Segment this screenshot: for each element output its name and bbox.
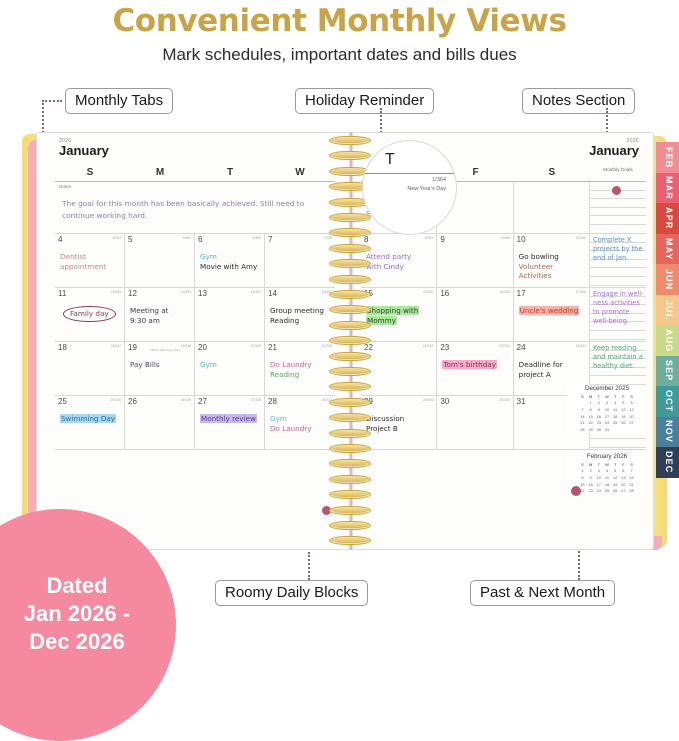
calendar-event[interactable]: Do Laundry (270, 424, 312, 434)
calendar-event-text: Reading (270, 316, 299, 325)
monthly-goals-header: Monthly Goals (590, 165, 646, 181)
month-tab-label: NOV (664, 420, 674, 443)
spiral-coil (329, 521, 371, 530)
mini-day: 8 (587, 406, 595, 413)
spiral-coil (329, 367, 371, 376)
day-number: 20 (198, 343, 207, 352)
month-tab-jul[interactable]: JUL (656, 295, 679, 326)
month-tab-label: OCT (664, 390, 674, 412)
calendar-event-text: Gym (200, 252, 217, 261)
day-of-year-fraction: 19/346 (181, 344, 191, 348)
calendar-event[interactable]: Gym (200, 252, 217, 262)
day-of-year-fraction: 4/361 (113, 236, 122, 240)
calendar-event[interactable]: Deadline for (519, 360, 563, 370)
month-tab-sep[interactable]: SEP (656, 356, 679, 387)
mini-day: 27 (627, 419, 635, 426)
day-of-year-fraction: 18/347 (111, 344, 121, 348)
calendar-event[interactable]: Group meeting (270, 306, 324, 316)
day-number: 7 (268, 235, 272, 244)
calendar-event-text: Meeting at (130, 306, 169, 315)
mini-day: 27 (619, 487, 627, 494)
callout-holiday-reminder: Holiday Reminder (295, 88, 434, 114)
monthly-goal-text: Keep reading and maintain a healthy diet… (593, 344, 645, 371)
spiral-coil (329, 244, 371, 253)
day-number: 17 (517, 289, 526, 298)
magnifier-rule (363, 173, 457, 174)
mini-dow: W (603, 393, 611, 400)
calendar-day-cell[interactable]: 55/360 (125, 234, 195, 288)
day-number: 26 (128, 397, 137, 406)
month-tab-nov[interactable]: NOV (656, 417, 679, 448)
spiral-coil (329, 444, 371, 453)
calendar-event[interactable]: Movie with Amy (200, 262, 257, 272)
left-calendar-grid: SMTWNotesThe goal for this month has bee… (55, 165, 335, 450)
day-number: 31 (517, 397, 526, 406)
calendar-day-cell[interactable]: 44/361Dentistappointment (55, 234, 125, 288)
calendar-event[interactable]: project A (519, 370, 551, 380)
mini-dow: T (595, 393, 603, 400)
calendar-event-text: Pay Bills (130, 360, 160, 369)
mini-day: 12 (611, 474, 619, 481)
day-of-year-fraction: 13/352 (251, 290, 261, 294)
day-of-year-fraction: 25/340 (111, 398, 121, 402)
goal-rule-line (590, 331, 646, 340)
callout-monthly-tabs: Monthly Tabs (65, 88, 173, 114)
monthly-goal-text: Engage in well-ness activities to promot… (593, 290, 645, 326)
callout-past-next-month: Past & Next Month (470, 580, 615, 606)
calendar-day-cell[interactable]: 2020/345Gym (195, 342, 265, 396)
mini-day: 9 (595, 406, 603, 413)
mini-day: 2 (587, 468, 595, 475)
mini-week-row: 15161718192021 (578, 481, 635, 488)
mini-day: 28 (627, 487, 635, 494)
day-of-year-fraction: 5/360 (183, 236, 192, 240)
mini-day: 16 (595, 413, 603, 420)
day-of-week-header: SMTW (55, 165, 335, 182)
mini-day: 10 (603, 406, 611, 413)
mini-day: 21 (578, 419, 586, 426)
mini-day: 7 (627, 468, 635, 475)
calendar-day-cell[interactable]: 77/358 (265, 234, 335, 288)
mini-day (619, 426, 627, 433)
month-tab-label: MAR (664, 176, 674, 200)
mini-dow: F (619, 393, 627, 400)
spiral-coil (329, 336, 371, 345)
notes-label: Notes (59, 184, 71, 189)
calendar-day-cell[interactable]: 99/356 (437, 234, 513, 288)
calendar-event-text: Gym (200, 360, 217, 369)
calendar-event[interactable]: Shopping with (366, 306, 419, 316)
mini-day: 29 (587, 426, 595, 433)
goals-cell[interactable]: Engage in well-ness activities to promot… (590, 288, 646, 342)
spiral-coil (329, 506, 371, 515)
page-title: Convenient Monthly Views (0, 4, 679, 40)
monthly-goal-text: Complete X projects by the end of Jan. (593, 236, 645, 263)
spiral-coil (329, 275, 371, 284)
mini-day: 3 (603, 400, 611, 407)
mini-day: 24 (595, 487, 603, 494)
calendar-event-text: Do Laundry (270, 424, 312, 433)
magnifier-dow-letter: T (385, 151, 395, 169)
mini-day: 9 (587, 474, 595, 481)
spiral-coil (329, 475, 371, 484)
day-of-year-fraction: 17/348 (576, 290, 586, 294)
mini-day: 24 (603, 419, 611, 426)
calendar-event-text: Attend party (366, 252, 411, 261)
calendar-day-cell[interactable]: 2323/342Tom's birthday (437, 342, 513, 396)
holiday-label: Martin Luther King Jr Day (151, 349, 180, 352)
mini-dow: T (611, 393, 619, 400)
calendar-day-cell[interactable]: 2626/339 (125, 396, 195, 450)
calendar-event[interactable]: appointment (60, 262, 106, 272)
month-tab-may[interactable]: MAY (656, 234, 679, 265)
spiral-coil (329, 429, 371, 438)
page-header: Convenient Monthly Views Mark schedules,… (0, 0, 679, 65)
calendar-event[interactable]: Gym (270, 414, 287, 424)
mini-day: 1 (578, 468, 586, 475)
spiral-coil (329, 259, 371, 268)
mini-calendar-table: SMTWTFS123456789101112131415161718192021… (578, 461, 635, 494)
calendar-event[interactable]: Uncle's wedding (519, 306, 580, 316)
mini-week-row: 891011121314 (578, 474, 635, 481)
calendar-event[interactable]: Pay Bills (130, 360, 160, 370)
mini-dow: W (603, 461, 611, 468)
holiday-magnifier: T 1/364 New Year's Day (362, 140, 457, 235)
calendar-day-cell[interactable]: 1414/351Group meetingReading (265, 288, 335, 342)
day-number: 30 (440, 397, 449, 406)
badge-line-2: Jan 2026 - (24, 600, 130, 628)
calendar-event[interactable]: Go bowling (519, 252, 559, 262)
page-subtitle: Mark schedules, important dates and bill… (0, 45, 679, 65)
spiral-coil (329, 290, 371, 299)
day-of-year-fraction: 12/353 (181, 290, 191, 294)
mini-day (578, 400, 586, 407)
day-number: 21 (268, 343, 277, 352)
badge-line-1: Dated (24, 572, 130, 600)
calendar-day-cell[interactable]: 1919/346Martin Luther King Jr DayPay Bil… (125, 342, 195, 396)
day-of-year-fraction: 9/356 (501, 236, 510, 240)
mini-day: 21 (627, 481, 635, 488)
day-number: 13 (198, 289, 207, 298)
right-page-month: January (589, 144, 639, 158)
goals-cell[interactable]: Complete X projects by the end of Jan. (590, 234, 646, 288)
day-of-year-fraction: 22/343 (423, 344, 433, 348)
mini-day: 7 (578, 406, 586, 413)
mini-day: 31 (603, 426, 611, 433)
goals-knob-icon (612, 186, 621, 195)
mini-day: 23 (595, 419, 603, 426)
month-tab-jun[interactable]: JUN (656, 264, 679, 295)
day-of-year-fraction: 7/358 (324, 236, 333, 240)
month-tab-label: SEP (664, 360, 674, 381)
planner-left-page: 2026 January SMTWNotesThe goal for this … (36, 132, 350, 550)
day-number: 5 (128, 235, 132, 244)
mini-week-row: 14151617181920 (578, 413, 635, 420)
day-number: 16 (440, 289, 449, 298)
mini-day: 26 (619, 419, 627, 426)
dow-label: T (195, 165, 265, 181)
mini-day: 3 (595, 468, 603, 475)
spiral-coil (329, 213, 371, 222)
mini-day: 22 (587, 419, 595, 426)
calendar-day-cell[interactable]: 1818/347 (55, 342, 125, 396)
planner-spread: JAN 2026 January SMTWNotesThe goal for t… (22, 132, 667, 552)
month-tab-feb[interactable]: FEB (656, 142, 679, 173)
mini-dow: T (611, 461, 619, 468)
mini-day: 12 (619, 406, 627, 413)
mini-calendar-title: February 2026 (567, 453, 647, 460)
mini-day: 15 (578, 481, 586, 488)
mini-day: 1 (587, 400, 595, 407)
goal-rule-line (590, 216, 646, 225)
calendar-event-text: Dentist (60, 252, 86, 261)
calendar-event[interactable]: Monthly review (200, 414, 257, 424)
calendar-day-cell[interactable]: 66/359GymMovie with Amy (195, 234, 265, 288)
calendar-event[interactable]: Family day (63, 306, 116, 322)
mini-day: 17 (595, 481, 603, 488)
mini-day: 8 (578, 474, 586, 481)
day-of-year-fraction: 29/336 (423, 398, 433, 402)
calendar-event[interactable]: 9:30 am (130, 316, 160, 326)
calendar-event-text: appointment (60, 262, 106, 271)
calendar-event[interactable]: Meeting at (130, 306, 169, 316)
mini-day: 14 (627, 474, 635, 481)
month-tab-mar[interactable]: MAR (656, 173, 679, 204)
calendar-event-text: Activities (519, 271, 552, 280)
month-tab-aug[interactable]: AUG (656, 325, 679, 356)
day-number: 23 (440, 343, 449, 352)
calendar-event[interactable]: Do Laundry (270, 360, 312, 370)
dow-label: M (125, 165, 195, 181)
mini-day: 26 (611, 487, 619, 494)
calendar-event[interactable]: Gym (200, 360, 217, 370)
month-tab-label: APR (664, 207, 674, 229)
calendar-event[interactable]: Activities (519, 271, 552, 281)
mini-day: 28 (578, 426, 586, 433)
calendar-event[interactable]: Reading (270, 316, 299, 326)
calendar-event-text: Go bowling (519, 252, 559, 261)
month-tab-strip[interactable]: FEBMARAPRMAYJUNJULAUGSEPOCTNOVDEC (656, 142, 679, 478)
month-tab-apr[interactable]: APR (656, 203, 679, 234)
calendar-week-row: 1515/350Shopping withMommy1616/3491717/3… (361, 288, 646, 342)
mini-day: 6 (627, 400, 635, 407)
mini-day: 30 (595, 426, 603, 433)
leader-line-blocks-v (308, 552, 310, 580)
day-of-year-fraction: 16/349 (499, 290, 509, 294)
mini-day: 13 (627, 406, 635, 413)
calendar-week-row: NotesThe goal for this month has been ba… (55, 182, 335, 234)
mini-day (627, 426, 635, 433)
calendar-event[interactable]: Dentist (60, 252, 86, 262)
goals-cell[interactable] (590, 182, 646, 234)
calendar-event-text: Do Laundry (270, 360, 312, 369)
day-of-year-fraction: 24/341 (576, 344, 586, 348)
day-of-year-fraction: 6/359 (253, 236, 262, 240)
month-tab-label: FEB (664, 147, 674, 168)
mini-dow: M (587, 461, 595, 468)
day-number: 10 (517, 235, 526, 244)
callout-notes-section: Notes Section (522, 88, 635, 114)
calendar-week-row: 1111/354Family day1212/353Meeting at9:30… (55, 288, 335, 342)
mini-day: 5 (611, 468, 619, 475)
mini-day: 4 (611, 400, 619, 407)
calendar-event-text: Family day (70, 309, 109, 318)
dow-label: S (55, 165, 125, 181)
calendar-day-cell[interactable]: 1515/350Shopping withMommy (361, 288, 437, 342)
mini-day: 19 (619, 413, 627, 420)
mini-day: 20 (627, 413, 635, 420)
mini-dow: F (619, 461, 627, 468)
calendar-event[interactable]: Swimming Day (60, 414, 116, 424)
calendar-event[interactable]: Volunteer (519, 262, 553, 272)
calendar-event[interactable]: Attend party (366, 252, 411, 262)
calendar-event[interactable]: with Cindy (366, 262, 404, 272)
calendar-day-cell[interactable]: 1111/354Family day (55, 288, 125, 342)
mini-day: 18 (611, 413, 619, 420)
calendar-event[interactable]: Discussion (366, 414, 404, 424)
calendar-day-cell[interactable]: 1010/355Go bowlingVolunteerActivities (514, 234, 590, 288)
calendar-day-cell[interactable]: 88/357Attend partywith Cindy (361, 234, 437, 288)
left-page-month: January (59, 144, 109, 158)
mini-week-row: 28293031 (578, 426, 635, 433)
calendar-day-cell[interactable]: 1313/352 (195, 288, 265, 342)
calendar-event-text: Volunteer (519, 262, 553, 271)
calendar-event-text: Reading (270, 370, 299, 379)
mini-day: 16 (587, 481, 595, 488)
mini-day: 11 (611, 406, 619, 413)
mini-day: 2 (595, 400, 603, 407)
goal-rule-line (590, 225, 646, 234)
day-number: 9 (440, 235, 444, 244)
mini-day: 20 (619, 481, 627, 488)
calendar-day-cell[interactable]: 2525/340Swimming Day (55, 396, 125, 450)
callout-roomy-daily-blocks: Roomy Daily Blocks (215, 580, 368, 606)
mini-dow: S (627, 393, 635, 400)
leader-line-monthly-tabs-h (42, 100, 62, 102)
mini-dow: T (595, 461, 603, 468)
mini-day: 4 (603, 468, 611, 475)
mini-dow: S (578, 393, 586, 400)
calendar-event-text: 9:30 am (130, 316, 160, 325)
day-of-year-fraction: 20/345 (251, 344, 261, 348)
calendar-day-cell[interactable]: 3030/335 (437, 396, 513, 450)
mini-dow: S (578, 461, 586, 468)
day-number: 24 (517, 343, 526, 352)
calendar-event-text: Monthly review (200, 414, 257, 423)
mini-day: 13 (619, 474, 627, 481)
goal-rule-line (590, 376, 646, 385)
day-number: 22 (364, 343, 373, 352)
mini-day: 10 (595, 474, 603, 481)
mini-day: 14 (578, 413, 586, 420)
day-of-year-fraction: 21/344 (322, 344, 332, 348)
day-number: 8 (364, 235, 368, 244)
month-tab-dec[interactable]: DEC (656, 447, 679, 478)
calendar-day-cell[interactable] (514, 182, 590, 234)
mini-week-row: 1234567 (578, 468, 635, 475)
month-tab-oct[interactable]: OCT (656, 386, 679, 417)
calendar-event-text: Uncle's wedding (519, 306, 580, 315)
calendar-day-cell[interactable]: 1717/348Uncle's wedding (514, 288, 590, 342)
mini-calendar-previous-month: December 2025SMTWTFS12345678910111213141… (567, 385, 647, 433)
calendar-day-cell[interactable]: 1616/349 (437, 288, 513, 342)
dow-label: S (514, 165, 590, 181)
spiral-coil (329, 352, 371, 361)
calendar-day-cell[interactable]: 1212/353Meeting at9:30 am (125, 288, 195, 342)
calendar-event[interactable]: Tom's birthday (442, 360, 497, 370)
calendar-week-row: 2525/340Swimming Day2626/3392727/338Mont… (55, 396, 335, 450)
month-tab-label: JUL (664, 300, 674, 320)
magnifier-day-fraction: 1/364 (432, 177, 446, 183)
notes-section[interactable]: NotesThe goal for this month has been ba… (55, 182, 335, 234)
month-tab-label: DEC (664, 451, 674, 473)
day-number: 28 (268, 397, 277, 406)
spiral-coil (329, 490, 371, 499)
mini-week-row: 123456 (578, 400, 635, 407)
badge-line-3: Dec 2026 (24, 628, 130, 656)
day-number: 18 (58, 343, 67, 352)
day-of-year-fraction: 27/338 (251, 398, 261, 402)
spiral-coil (329, 321, 371, 330)
calendar-day-cell[interactable]: 2727/338Monthly review (195, 396, 265, 450)
day-number: 19 (128, 343, 137, 352)
mini-day (611, 426, 619, 433)
next-month-marker-icon (571, 486, 581, 496)
day-of-year-fraction: 15/350 (423, 290, 433, 294)
calendar-day-cell[interactable]: 2121/344Do LaundryReading (265, 342, 335, 396)
day-number: 12 (128, 289, 137, 298)
day-number: 11 (58, 289, 66, 298)
day-of-year-fraction: 30/335 (499, 398, 509, 402)
mini-day: 6 (619, 468, 627, 475)
month-tab-label: MAY (664, 238, 674, 260)
goal-rule-line (590, 199, 646, 208)
day-of-year-fraction: 11/354 (111, 290, 121, 294)
goal-rule-line (590, 439, 646, 448)
dow-label: W (265, 165, 335, 181)
mini-week-row: 21222324252627 (578, 419, 635, 426)
calendar-event-text: project A (519, 370, 551, 379)
mini-calendar-title: December 2025 (567, 385, 647, 392)
calendar-event-text: Group meeting (270, 306, 324, 315)
day-of-year-fraction: 26/339 (181, 398, 191, 402)
mini-day: 11 (603, 474, 611, 481)
month-tab-label: AUG (664, 329, 674, 352)
calendar-event[interactable]: Reading (270, 370, 299, 380)
calendar-day-cell[interactable]: 2828/337GymDo Laundry (265, 396, 335, 450)
day-number: 4 (58, 235, 62, 244)
goal-rule-line (590, 208, 646, 217)
notes-text: The goal for this month has been basical… (62, 198, 312, 222)
mini-dow: M (587, 393, 595, 400)
mini-day: 23 (587, 487, 595, 494)
mini-week-row: 78910111213 (578, 406, 635, 413)
calendar-event-text: Discussion (366, 414, 404, 423)
calendar-day-cell[interactable]: 2222/343 (361, 342, 437, 396)
mini-day: 18 (603, 481, 611, 488)
calendar-day-cell[interactable]: 2929/336DiscussionProject B (361, 396, 437, 450)
goal-rule-line (590, 268, 646, 277)
mini-day: 25 (603, 487, 611, 494)
mini-day: 25 (611, 419, 619, 426)
calendar-event-text: Movie with Amy (200, 262, 257, 271)
calendar-event-text: Gym (270, 414, 287, 423)
calendar-event-text: Tom's birthday (442, 360, 497, 369)
calendar-week-row: 1818/3471919/346Martin Luther King Jr Da… (55, 342, 335, 396)
calendar-event-text: Deadline for (519, 360, 563, 369)
mini-dow: S (627, 461, 635, 468)
mini-calendar-table: SMTWTFS123456789101112131415161718192021… (578, 393, 635, 433)
